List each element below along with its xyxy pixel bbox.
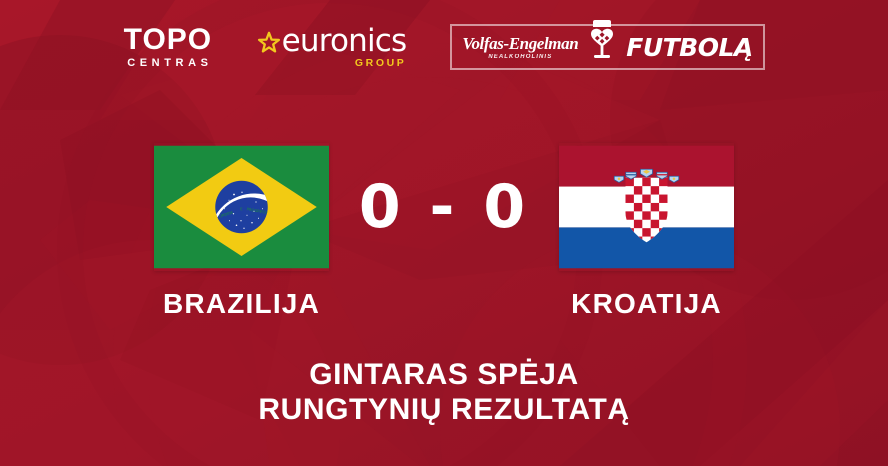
tagline-line-2: RUNGTYNIŲ REZULTATĄ <box>0 393 888 428</box>
match-row: ORDEM E PROGRESSO <box>0 141 888 273</box>
tagline-line-1: GINTARAS SPĖJA <box>0 358 888 393</box>
euronics-word: euronics <box>282 26 407 57</box>
croatia-flag <box>559 143 734 271</box>
away-team-name: KROATIJA <box>559 288 734 320</box>
euronics-star-icon <box>257 31 281 60</box>
topo-centras-main-text: TOPO <box>124 25 212 55</box>
futbola-text: FUTBOLĄ <box>626 33 753 62</box>
topo-centras-sub-text: CENTRAS <box>123 58 212 69</box>
euronics-group-text: GROUP <box>282 58 407 69</box>
match-score: 0 - 0 <box>329 172 559 242</box>
home-team-name: BRAZILIJA <box>154 288 329 320</box>
volfas-engelman-name: Volfas-Engelman <box>462 35 578 52</box>
brazil-flag: ORDEM E PROGRESSO <box>154 143 329 271</box>
euronics-logo[interactable]: euronics GROUP <box>257 26 407 69</box>
volfas-engelman-subtitle: NEALKOHOLINIS <box>488 54 552 60</box>
away-flag-wrapper <box>559 143 734 271</box>
beer-glass-heart-icon <box>582 18 622 67</box>
home-flag-wrapper: ORDEM E PROGRESSO <box>154 143 329 271</box>
topo-centras-logo[interactable]: TOPO CENTRAS <box>123 25 212 69</box>
sponsor-bar: TOPO CENTRAS euronics GROUP Volfas-Engel… <box>0 22 888 72</box>
volfas-engelman-futbola-logo[interactable]: Volfas-Engelman NEALKOHOLINIS <box>450 24 764 70</box>
team-names-row: BRAZILIJA KROATIJA <box>0 288 888 320</box>
tagline: GINTARAS SPĖJA RUNGTYNIŲ REZULTATĄ <box>0 358 888 428</box>
promo-banner: TOPO CENTRAS euronics GROUP Volfas-Engel… <box>0 0 888 466</box>
